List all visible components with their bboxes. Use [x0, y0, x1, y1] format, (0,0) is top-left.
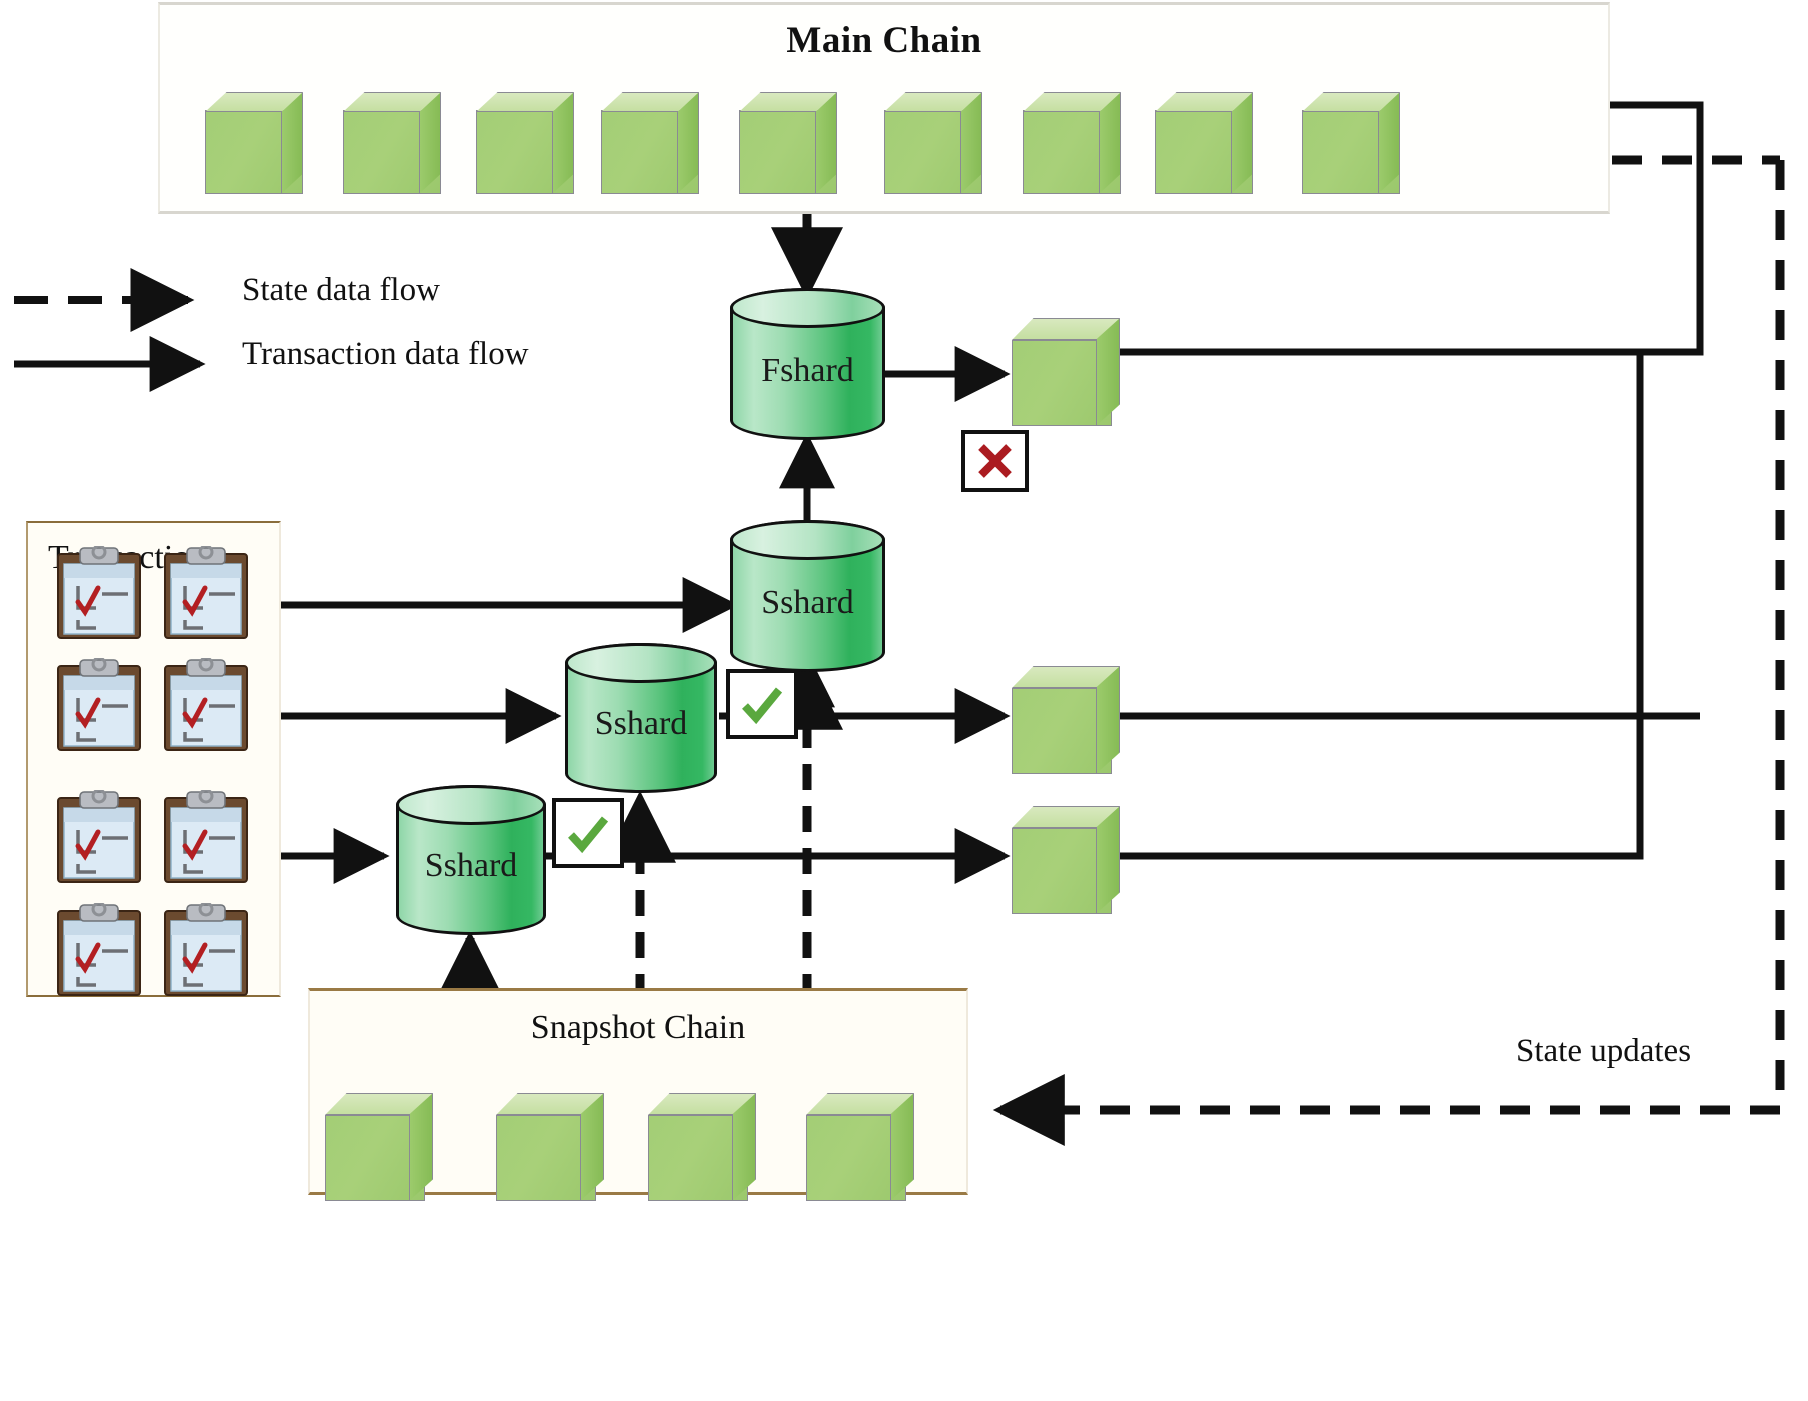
main-chain-block-1 — [205, 92, 303, 194]
clipboard-check-icon — [56, 790, 142, 884]
snapshot-chain-title: Snapshot Chain — [310, 1009, 966, 1047]
legend-label-transaction-data-flow: Transaction data flow — [242, 336, 529, 373]
shard-sshard-top[interactable]: Sshard — [730, 520, 885, 672]
legend-label-state-data-flow: State data flow — [242, 272, 440, 309]
shard-label: Sshard — [565, 705, 717, 743]
clipboard-check-icon — [163, 546, 249, 640]
clipboard-check-icon — [56, 546, 142, 640]
snapshot-block-2 — [496, 1093, 604, 1201]
page-title: Main Chain — [160, 19, 1608, 62]
diagram-canvas: Main Chain — [0, 0, 1808, 1401]
cylinder-top-lid — [730, 288, 885, 328]
tx-flow-output-sshardbottom-to-trunk — [1120, 352, 1640, 856]
legend-item-state-data-flow: State data flow — [14, 280, 614, 324]
output-block-sshard-bottom — [1012, 806, 1120, 914]
main-chain-block-7 — [1023, 92, 1121, 194]
main-chain-block-8 — [1155, 92, 1253, 194]
state-flow-trunk-right — [1000, 160, 1780, 1110]
clipboard-check-icon — [163, 790, 249, 884]
output-block-sshard-mid — [1012, 666, 1120, 774]
main-chain-block-4 — [601, 92, 699, 194]
state-updates-label: State updates — [1516, 1033, 1691, 1070]
main-chain-block-6 — [884, 92, 982, 194]
clipboard-check-icon — [56, 903, 142, 997]
cylinder-top-lid — [565, 643, 717, 683]
clipboard-check-icon — [56, 658, 142, 752]
shard-label: Sshard — [396, 847, 546, 885]
legend-item-transaction-data-flow: Transaction data flow — [14, 344, 614, 388]
shard-label: Sshard — [730, 584, 885, 622]
cylinder-top-lid — [396, 785, 546, 825]
status-badge-check-bottom[interactable] — [552, 798, 624, 868]
main-chain-block-2 — [343, 92, 441, 194]
snapshot-block-3 — [648, 1093, 756, 1201]
shard-fshard[interactable]: Fshard — [730, 288, 885, 440]
clipboard-check-icon — [163, 658, 249, 752]
output-block-fshard — [1012, 318, 1120, 426]
clipboard-check-icon — [163, 903, 249, 997]
main-chain-block-5 — [739, 92, 837, 194]
snapshot-block-1 — [325, 1093, 433, 1201]
shard-sshard-bottom[interactable]: Sshard — [396, 785, 546, 935]
main-chain-block-9 — [1302, 92, 1400, 194]
snapshot-block-4 — [806, 1093, 914, 1201]
check-icon — [563, 809, 613, 857]
cylinder-top-lid — [730, 520, 885, 560]
status-badge-check-mid[interactable] — [726, 669, 798, 739]
check-icon — [737, 680, 787, 728]
shard-sshard-mid[interactable]: Sshard — [565, 643, 717, 793]
status-badge-cross[interactable] — [961, 430, 1029, 492]
cross-icon — [973, 439, 1017, 483]
shard-label: Fshard — [730, 352, 885, 390]
main-chain-block-3 — [476, 92, 574, 194]
